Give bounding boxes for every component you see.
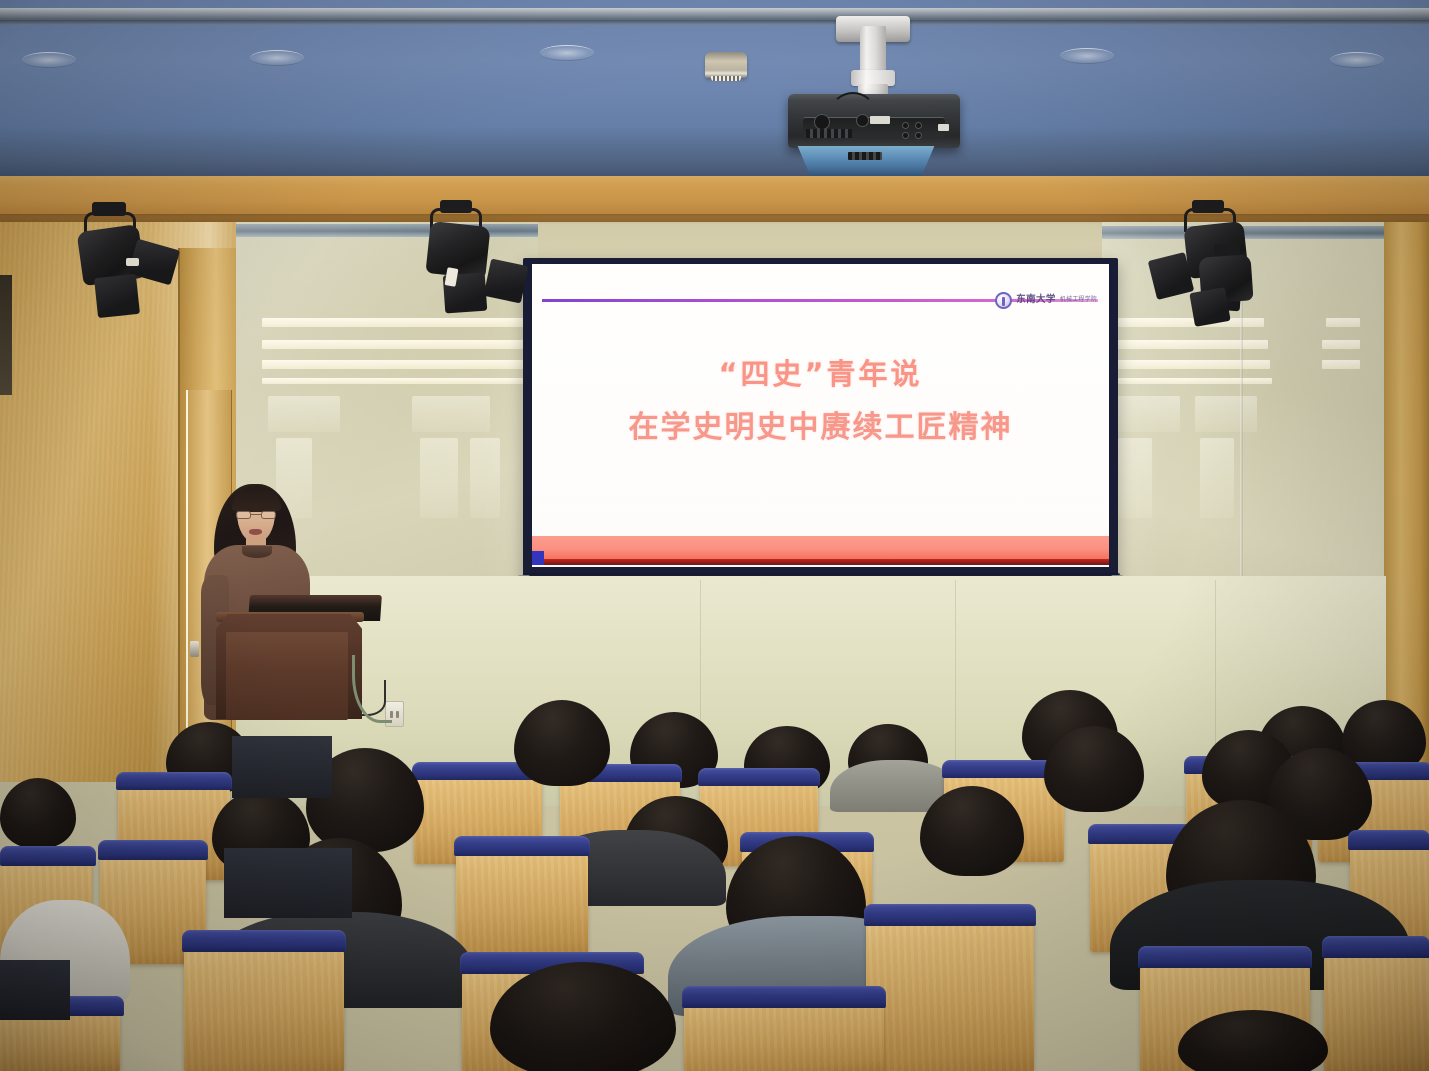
seat-cushion[interactable] [1322,936,1429,958]
audience-head [0,778,76,848]
podium-front-panel [226,632,348,720]
slide-corner-accent [532,551,544,565]
seat-back[interactable] [1324,950,1429,1071]
seat-cushion[interactable] [98,840,208,860]
projector-front-vents [848,152,882,160]
seat-cushion[interactable] [0,846,96,866]
seat-back[interactable] [866,918,1034,1071]
left-wall-dark-panel [0,275,12,395]
projector-lens-housing [790,146,942,178]
wall-seam [955,580,956,770]
projector-knob [814,114,830,130]
aisle-floor [232,736,332,798]
speaker-glasses-icon [236,511,276,519]
projector-indicator [902,132,909,139]
light-barndoor [1189,287,1230,327]
seat-cushion[interactable] [864,904,1036,926]
slide-bottom-band-edge [532,559,1109,565]
light-barndoor [483,258,528,303]
speaker-mouth [249,529,262,535]
logo-school-name: 机械工程学院 [1060,297,1097,303]
logo-university-name: 东南大学 [1016,295,1056,305]
projector-indicator [915,122,922,129]
smoke-detector-icon [705,52,747,78]
wall-seam [1215,580,1216,770]
aisle-floor [0,960,70,1020]
projector-vents [806,129,852,138]
projector-label [938,124,949,131]
ceiling [0,0,1429,176]
projector-indicator [902,122,909,129]
door-handle[interactable] [190,641,199,657]
slide-surface: 东南大学 机械工程学院 “四史”青年说 在学史明史中赓续工匠精神 [532,264,1109,567]
recessed-ceiling-light [250,50,304,66]
seat-cushion[interactable] [116,772,232,790]
university-logo: 东南大学 机械工程学院 [995,288,1097,312]
seat-back[interactable] [184,944,344,1071]
glasses-bridge [251,514,261,515]
seat-cushion[interactable] [1348,830,1429,850]
recessed-ceiling-light [1060,48,1114,64]
aisle-floor [224,848,352,918]
glasses-lens-right [261,511,276,519]
recessed-ceiling-light [22,52,76,68]
recessed-ceiling-light [540,45,594,61]
recessed-ceiling-light [1330,52,1384,68]
seat-cushion[interactable] [454,836,590,856]
slide-title-secondary: 在学史明史中赓续工匠精神 [532,408,1109,447]
seat-cushion[interactable] [682,986,886,1008]
slide-title-primary: “四史”青年说 [532,356,1109,392]
right-wood-wall [1382,222,1429,782]
logo-emblem-icon [995,292,1012,309]
projector-indicator [915,132,922,139]
ceiling-rail-secondary [0,20,1429,25]
speaker-collar [242,546,272,558]
slide-bottom-band [532,536,1109,559]
seat-cushion[interactable] [182,930,346,952]
projection-screen: 东南大学 机械工程学院 “四史”青年说 在学史明史中赓续工匠精神 [523,258,1118,580]
light-label [126,258,139,266]
seat-back[interactable] [684,1000,884,1071]
seat-cushion[interactable] [1138,946,1312,968]
seat-cushion[interactable] [698,768,820,786]
seat-back[interactable] [456,848,588,958]
slide-title-block: “四史”青年说 在学史明史中赓续工匠精神 [532,356,1109,447]
lecture-hall-photo: 东南大学 机械工程学院 “四史”青年说 在学史明史中赓续工匠精神 [0,0,1429,1071]
light-barndoor [94,274,140,318]
glasses-lens-left [236,511,251,519]
